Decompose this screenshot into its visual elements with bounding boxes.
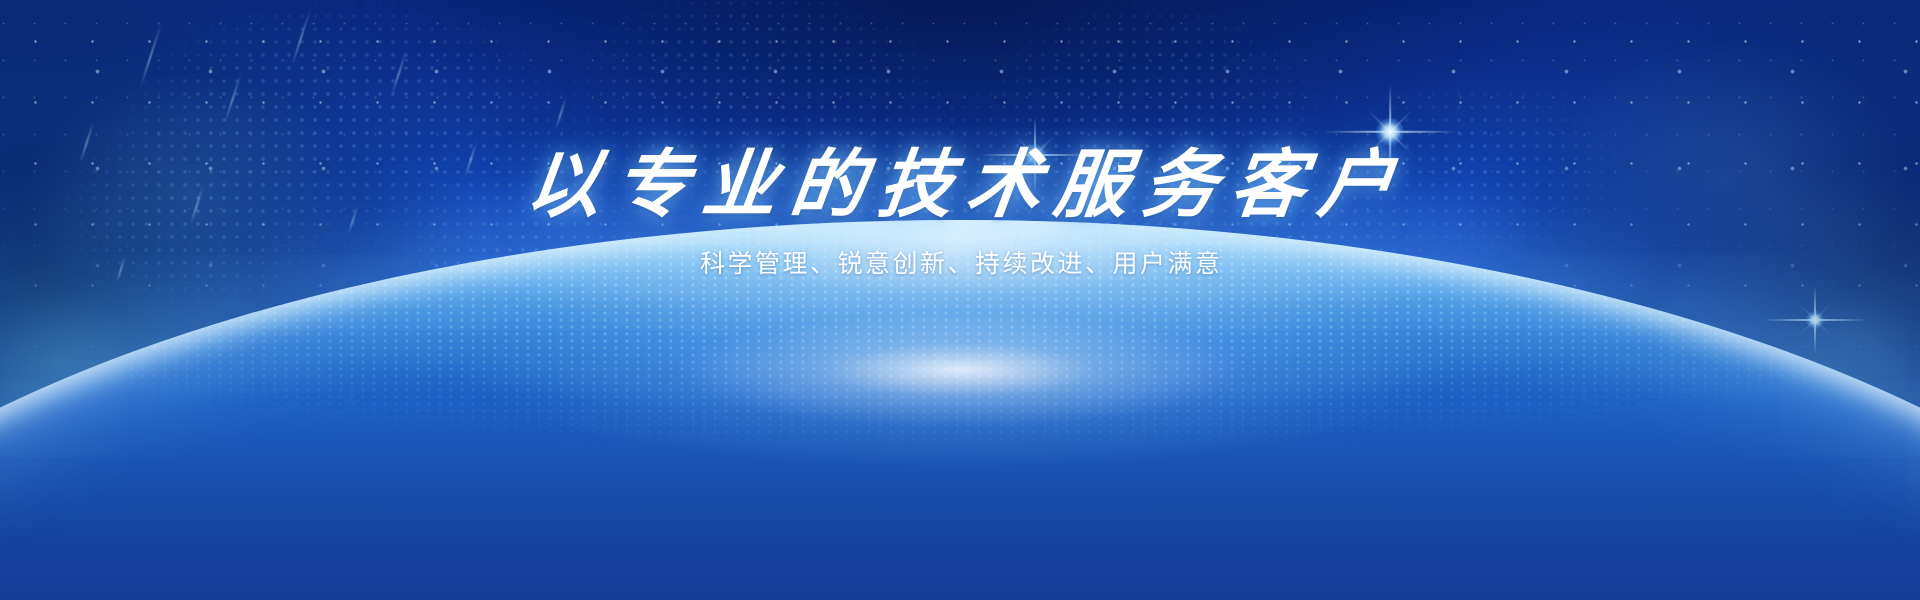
hero-banner: 以专业的技术服务客户 科学管理、锐意创新、持续改进、用户满意 [0, 0, 1920, 600]
banner-headline: 以专业的技术服务客户 [0, 148, 1920, 222]
banner-subtitle: 科学管理、锐意创新、持续改进、用户满意 [0, 248, 1920, 281]
